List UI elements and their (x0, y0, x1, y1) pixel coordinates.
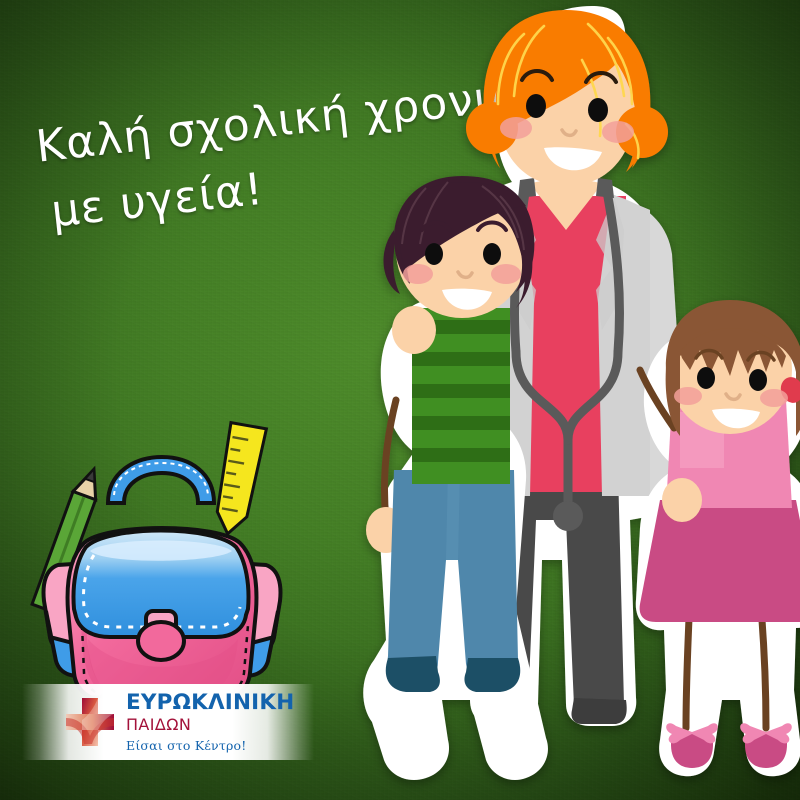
doctor-eye-right (588, 98, 608, 122)
girl-hand-right (662, 478, 702, 522)
logo-text-block: ΕΥΡΩΚΛΙΝΙΚΗ ΠΑΙΔΩΝ Είσαι στο Κέντρο! (126, 692, 294, 752)
girl-skirt (640, 500, 800, 622)
doctor-blush-right (602, 121, 634, 143)
boy-eye-left (425, 243, 443, 265)
doctor-shoe-right (571, 698, 626, 724)
character-girl (636, 300, 800, 776)
doctor-eye-left (526, 94, 546, 118)
boy-shoe-left (386, 656, 440, 692)
poster-canvas: Καλή σχολική χρονιά με υγεία! (0, 0, 800, 800)
backpack-illustration (10, 415, 310, 715)
backpack-handle (108, 457, 214, 503)
logo-banner[interactable]: ΕΥΡΩΚΛΙΝΙΚΗ ΠΑΙΔΩΝ Είσαι στο Κέντρο! (22, 684, 314, 760)
character-boy (363, 176, 548, 780)
backpack-buckle (138, 622, 184, 660)
boy-shoe-right (464, 658, 520, 692)
doctor-blush-left (500, 117, 532, 139)
medical-cross-icon (64, 696, 116, 748)
characters-illustration (330, 0, 800, 800)
logo-brand: ΕΥΡΩΚΛΙΝΙΚΗ (126, 692, 294, 714)
stethoscope-chestpiece (553, 501, 583, 531)
girl-eye-right (749, 369, 767, 391)
boy-eye-right (483, 243, 501, 265)
ruler-icon (212, 423, 267, 538)
boy-blush-left (403, 264, 433, 284)
girl-eye-left (697, 367, 715, 389)
logo-tagline: Είσαι στο Κέντρο! (126, 740, 294, 753)
logo-subtitle: ΠΑΙΔΩΝ (126, 717, 294, 733)
boy-blush-right (491, 264, 521, 284)
girl-blush-left (674, 387, 702, 405)
girl-blush-right (760, 389, 788, 407)
boy-shoulder (392, 306, 436, 354)
